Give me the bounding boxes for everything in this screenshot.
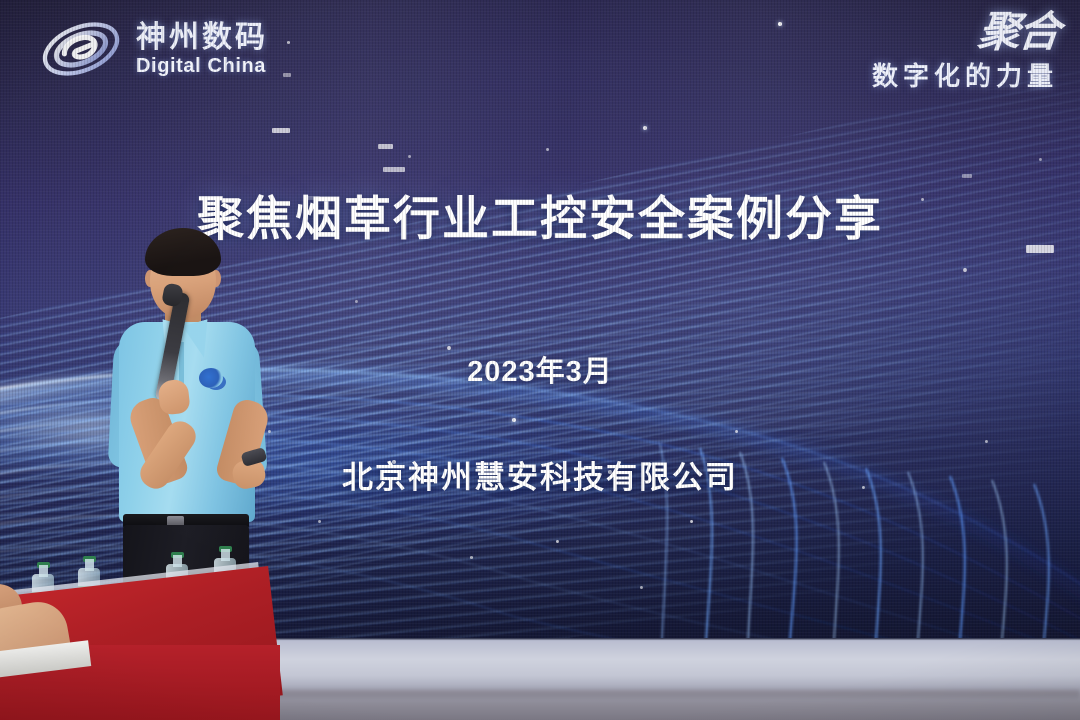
theme-subtitle: 数字化的力量 [872, 56, 1058, 93]
theme-calligraphy: 聚合 [870, 14, 1060, 54]
digital-china-spiral-icon [38, 18, 124, 80]
brand-name-cn: 神州数码 [136, 23, 268, 53]
presenter-hair [145, 228, 221, 276]
brand-name-en: Digital China [136, 56, 268, 76]
conference-photo-scene: 神州数码 Digital China 聚合 数字化的力量 聚焦烟草行业工控安全案… [0, 0, 1080, 720]
digital-china-logo: 神州数码 Digital China [38, 18, 268, 80]
digital-china-wordmark: 神州数码 Digital China [136, 23, 268, 76]
event-theme-logo: 聚合 数字化的力量 [872, 14, 1058, 93]
presenter-shirt-logo-icon [199, 368, 223, 388]
